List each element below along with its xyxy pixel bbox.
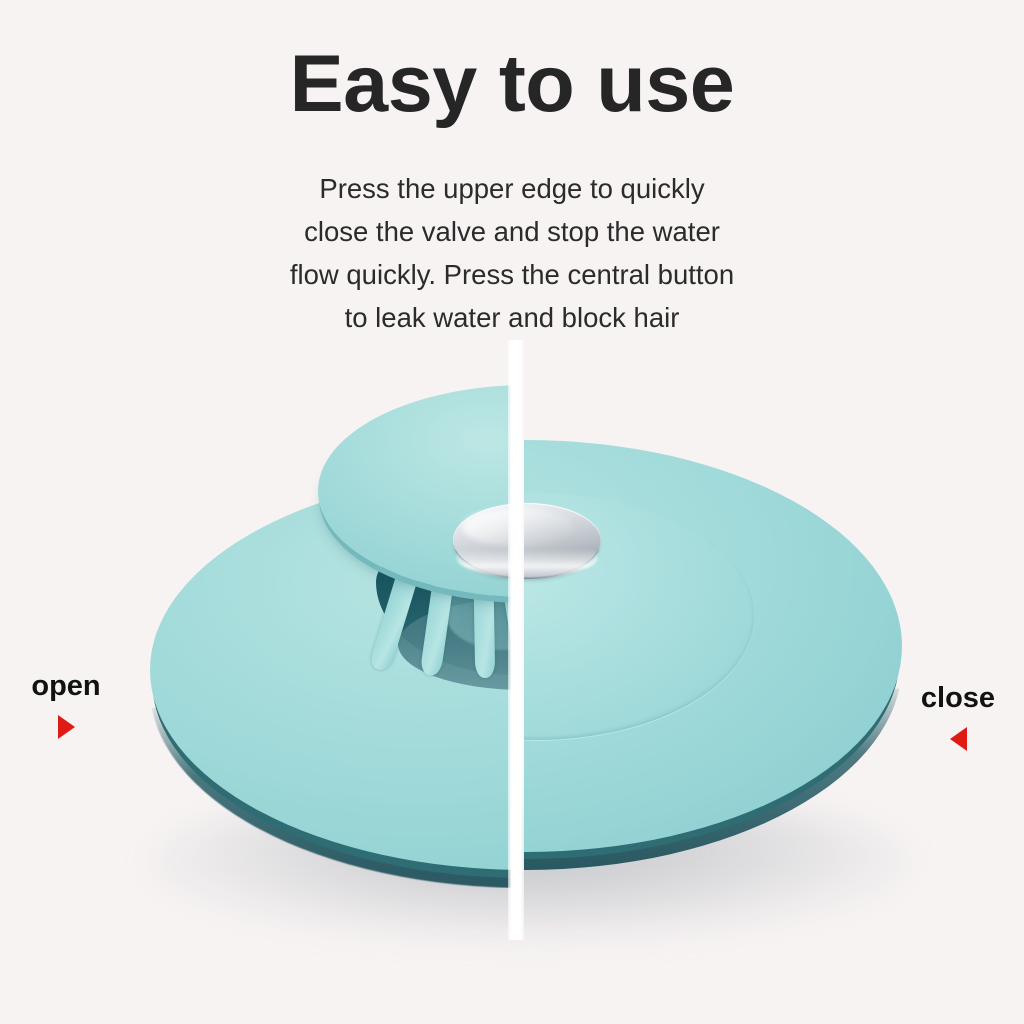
description-text: Press the upper edge to quickly close th… (262, 168, 762, 340)
label-open: open (14, 672, 118, 739)
triangle-left-icon (950, 727, 967, 751)
label-open-text: open (14, 672, 118, 701)
triangle-right-icon (58, 715, 75, 739)
description-line-2: close the valve and stop the water (262, 211, 762, 254)
product-feature-graphic: Easy to use Press the upper edge to quic… (0, 0, 1024, 1024)
label-close: close (902, 684, 1014, 751)
label-close-text: close (902, 684, 1014, 713)
description-line-1: Press the upper edge to quickly (262, 168, 762, 211)
page-title: Easy to use (0, 42, 1024, 127)
description-line-4: to leak water and block hair (262, 297, 762, 340)
description-line-3: flow quickly. Press the central button (262, 254, 762, 297)
split-view-divider (508, 340, 524, 940)
